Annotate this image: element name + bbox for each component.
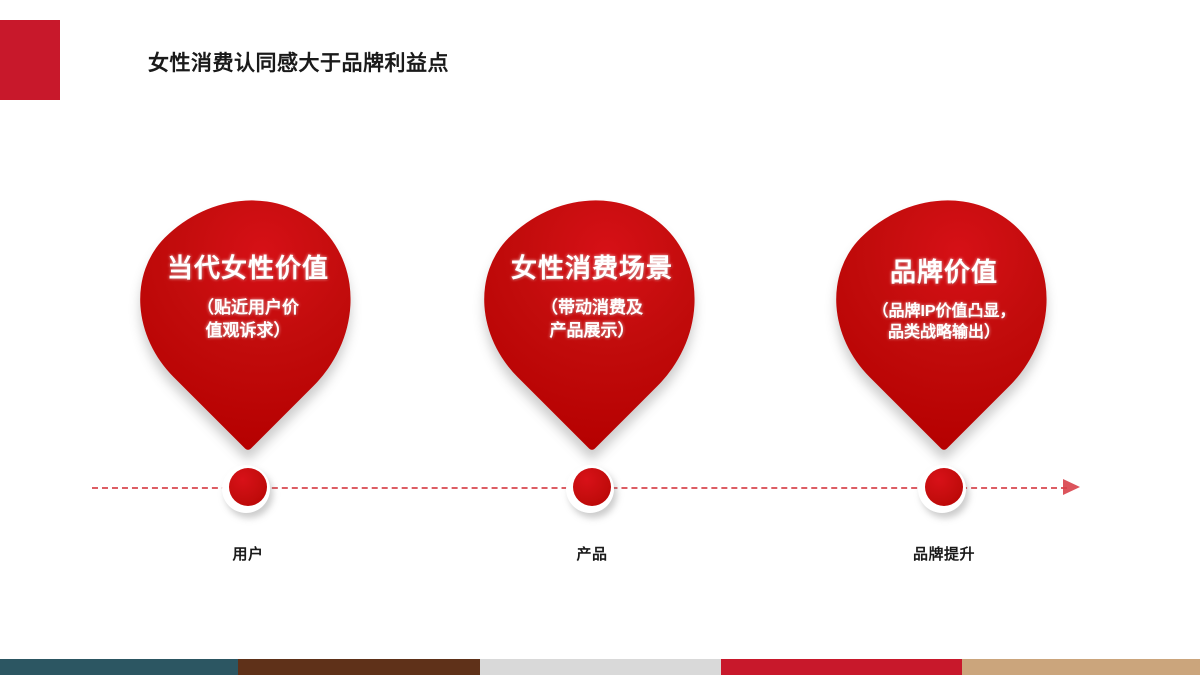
- pin-group-3[interactable]: 品牌价值 （品牌IP价值凸显， 品类战略输出） 品牌提升: [839, 0, 1049, 675]
- pin-group-2[interactable]: 女性消费场景 （带动消费及 产品展示） 产品: [487, 0, 697, 675]
- map-pin-icon: [444, 155, 741, 452]
- node-dot: [229, 468, 267, 506]
- timeline-node[interactable]: [570, 466, 614, 510]
- accent-block: [0, 20, 60, 100]
- node-dot: [573, 468, 611, 506]
- bottom-color-strip: [0, 659, 1200, 675]
- strip-segment-4: [721, 659, 962, 675]
- map-pin-icon: [796, 155, 1093, 452]
- map-pin-icon: [100, 155, 397, 452]
- pin-caption: 用户: [143, 543, 353, 564]
- strip-segment-3: [480, 659, 721, 675]
- timeline-node[interactable]: [226, 466, 270, 510]
- node-dot: [925, 468, 963, 506]
- pin-caption: 产品: [487, 543, 697, 564]
- arrow-right-icon: [1063, 479, 1080, 495]
- timeline-node[interactable]: [922, 466, 966, 510]
- strip-segment-1: [0, 659, 238, 675]
- strip-segment-5: [962, 659, 1200, 675]
- pin-caption: 品牌提升: [839, 543, 1049, 564]
- slide-canvas: 女性消费认同感大于品牌利益点 当代女性价值 （贴近用户价 值观诉求） 用户 女性…: [0, 0, 1200, 675]
- strip-segment-2: [238, 659, 480, 675]
- pin-group-1[interactable]: 当代女性价值 （贴近用户价 值观诉求） 用户: [143, 0, 353, 675]
